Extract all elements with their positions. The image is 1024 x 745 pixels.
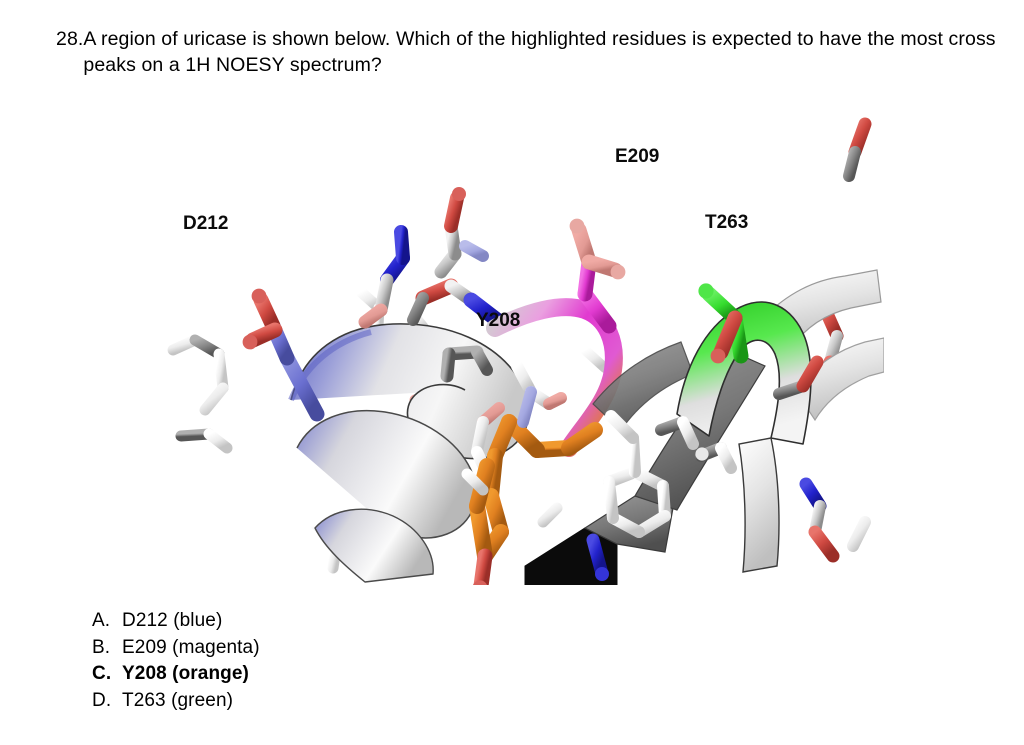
answer-text-c: Y208 (orange) (122, 661, 612, 688)
answer-options-list: A. D212 (blue) B. E209 (magenta) C. Y208… (92, 608, 612, 714)
label-t263: T263 (705, 212, 748, 233)
answer-key-c: C. (92, 661, 122, 688)
protein-structure-svg: D212 E209 T263 Y208 (165, 104, 884, 585)
answer-option-d[interactable]: D. T263 (green) (92, 688, 612, 715)
protein-structure-figure: D212 E209 T263 Y208 (165, 104, 884, 585)
question-text: A region of uricase is shown below. Whic… (83, 26, 996, 78)
answer-text-a: D212 (blue) (122, 608, 612, 635)
answer-option-c[interactable]: C. Y208 (orange) (92, 661, 612, 688)
answer-key-d: D. (92, 688, 122, 715)
label-d212: D212 (183, 213, 228, 234)
answer-key-a: A. (92, 608, 122, 635)
answer-option-a[interactable]: A. D212 (blue) (92, 608, 612, 635)
answer-text-d: T263 (green) (122, 688, 612, 715)
question-block: 28. A region of uricase is shown below. … (56, 26, 996, 78)
question-line: 28. A region of uricase is shown below. … (56, 26, 996, 78)
answer-text-b: E209 (magenta) (122, 635, 612, 662)
question-number: 28. (56, 26, 83, 52)
label-e209: E209 (615, 146, 659, 167)
answer-key-b: B. (92, 635, 122, 662)
answer-option-b[interactable]: B. E209 (magenta) (92, 635, 612, 662)
label-y208: Y208 (476, 310, 520, 331)
